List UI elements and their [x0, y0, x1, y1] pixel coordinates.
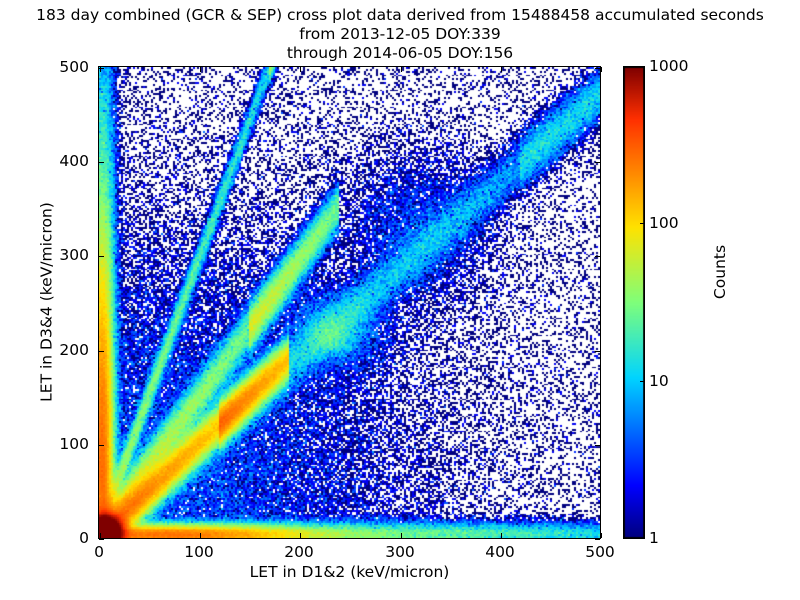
- y-tick-label: 500: [59, 58, 89, 76]
- y-tick-mark: [99, 162, 104, 163]
- x-tick-label: 300: [385, 543, 415, 561]
- colorbar[interactable]: [623, 66, 645, 539]
- y-tick-mark: [99, 539, 104, 540]
- y-tick-label: 300: [59, 246, 89, 264]
- y-tick-label: 200: [59, 341, 89, 359]
- y-tick-label: 100: [59, 435, 89, 453]
- y-tick-mark: [595, 445, 600, 446]
- x-tick-label: 500: [585, 543, 615, 561]
- colorbar-tick-label: 10: [649, 372, 669, 390]
- colorbar-tick-mark: [640, 223, 645, 224]
- x-tick-mark: [601, 67, 602, 72]
- y-tick-mark: [595, 68, 600, 69]
- x-axis-label: LET in D1&2 (keV/micron): [98, 563, 601, 581]
- x-tick-mark: [401, 533, 402, 538]
- colorbar-tick-label: 1000: [649, 57, 688, 75]
- x-tick-label: 100: [184, 543, 214, 561]
- x-tick-mark: [300, 533, 301, 538]
- y-tick-mark: [595, 256, 600, 257]
- colorbar-gradient: [623, 66, 645, 539]
- colorbar-tick-label: 100: [649, 214, 679, 232]
- x-tick-mark: [200, 533, 201, 538]
- chart-title-line-1: 183 day combined (GCR & SEP) cross plot …: [0, 6, 800, 25]
- x-tick-label: 0: [94, 543, 104, 561]
- y-tick-mark: [99, 351, 104, 352]
- x-tick-mark: [501, 67, 502, 72]
- x-tick-mark: [401, 67, 402, 72]
- x-tick-mark: [100, 533, 101, 538]
- figure-canvas: 183 day combined (GCR & SEP) cross plot …: [0, 0, 800, 600]
- colorbar-tick-mark: [640, 381, 645, 382]
- y-axis-label: LET in D3&4 (keV/micron): [38, 66, 56, 539]
- y-tick-mark: [99, 256, 104, 257]
- colorbar-label: Counts: [711, 152, 729, 392]
- y-tick-mark: [99, 445, 104, 446]
- x-tick-label: 200: [284, 543, 314, 561]
- y-tick-mark: [595, 162, 600, 163]
- x-tick-mark: [300, 67, 301, 72]
- heatmap-canvas: [99, 67, 600, 538]
- chart-title-line-2: from 2013-12-05 DOY:339: [0, 25, 800, 44]
- x-tick-label: 400: [485, 543, 515, 561]
- y-tick-mark: [99, 68, 104, 69]
- y-tick-label: 400: [59, 152, 89, 170]
- y-tick-mark: [595, 351, 600, 352]
- chart-title: 183 day combined (GCR & SEP) cross plot …: [0, 6, 800, 63]
- colorbar-tick-label: 1: [649, 529, 659, 547]
- plot-area[interactable]: [98, 66, 601, 539]
- x-tick-mark: [200, 67, 201, 72]
- y-tick-mark: [595, 539, 600, 540]
- x-tick-mark: [501, 533, 502, 538]
- x-tick-mark: [601, 533, 602, 538]
- y-tick-label: 0: [79, 529, 89, 547]
